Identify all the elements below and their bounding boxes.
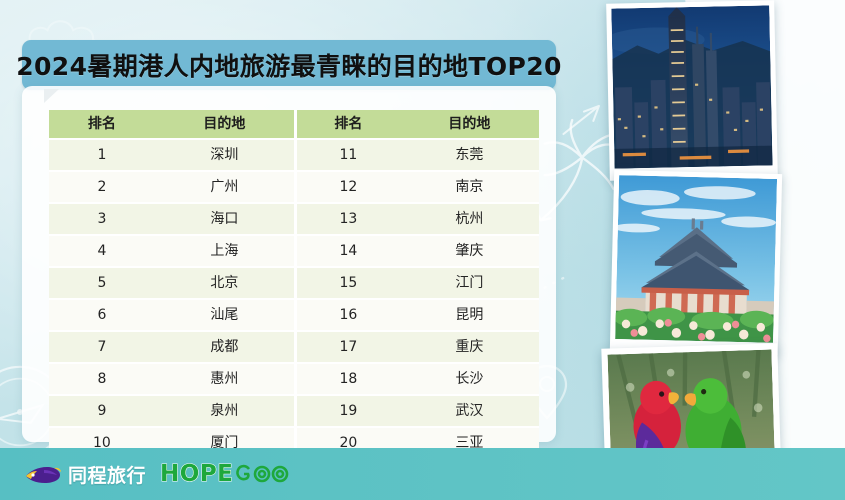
table-row: 2广州12南京: [49, 172, 539, 204]
cell-rank-left: 4: [49, 236, 155, 268]
cell-destination-left: 北京: [155, 268, 294, 300]
ranking-table: 排名 目的地 排名 目的地 1深圳11东莞2广州12南京3海口13杭州4上海14…: [49, 110, 539, 458]
cell-destination-left: 上海: [155, 236, 294, 268]
cell-destination-left: 泉州: [155, 396, 294, 428]
tongcheng-logo-text: 同程旅行: [68, 461, 146, 488]
cell-destination-left: 汕尾: [155, 300, 294, 332]
guangzhou-memorial-hall-image: [615, 175, 777, 343]
cell-rank-right: 14: [294, 236, 400, 268]
photo-guangzhou-memorial-hall: [610, 170, 782, 355]
cell-rank-right: 15: [294, 268, 400, 300]
cell-rank-right: 16: [294, 300, 400, 332]
cell-rank-left: 2: [49, 172, 155, 204]
ranking-table-inner: 排名 目的地 排名 目的地 1深圳11东莞2广州12南京3海口13杭州4上海14…: [49, 110, 539, 458]
cell-rank-left: 5: [49, 268, 155, 300]
table-header-row: 排名 目的地 排名 目的地: [49, 110, 539, 140]
title-banner-wrap: 2024暑期港人内地旅游最青睐的目的地TOP20: [22, 40, 556, 90]
page-title: 2024暑期港人内地旅游最青睐的目的地TOP20: [22, 40, 556, 90]
cell-destination-right: 重庆: [400, 332, 539, 364]
tongcheng-bird-icon: [24, 462, 62, 486]
header-destination-right: 目的地: [400, 110, 539, 140]
footer-bar: 同程旅行 HOPE: [0, 448, 845, 500]
table-row: 5北京15江门: [49, 268, 539, 300]
cell-destination-right: 昆明: [400, 300, 539, 332]
table-row: 7成都17重庆: [49, 332, 539, 364]
cell-rank-left: 8: [49, 364, 155, 396]
hopegoo-goo-icon: [233, 461, 289, 487]
ranking-table-card: 排名 目的地 排名 目的地 1深圳11东莞2广州12南京3海口13杭州4上海14…: [22, 86, 556, 442]
shenzhen-skyline-image: [611, 5, 772, 168]
header-rank-right: 排名: [294, 110, 400, 140]
cell-destination-right: 东莞: [400, 140, 539, 172]
cell-destination-right: 南京: [400, 172, 539, 204]
cell-destination-right: 肇庆: [400, 236, 539, 268]
infographic-canvas: 2024暑期港人内地旅游最青睐的目的地TOP20 排名 目的地 排名 目的地 1…: [0, 0, 845, 500]
cell-destination-right: 长沙: [400, 364, 539, 396]
cell-destination-left: 海口: [155, 204, 294, 236]
table-row: 3海口13杭州: [49, 204, 539, 236]
table-row: 9泉州19武汉: [49, 396, 539, 428]
hopegoo-hope-text: HOPE: [160, 461, 233, 487]
table-row: 6汕尾16昆明: [49, 300, 539, 332]
header-destination-left: 目的地: [155, 110, 294, 140]
table-row: 4上海14肇庆: [49, 236, 539, 268]
cell-destination-right: 杭州: [400, 204, 539, 236]
cell-rank-right: 12: [294, 172, 400, 204]
cell-rank-right: 11: [294, 140, 400, 172]
airplane-icon: [556, 96, 612, 144]
tongcheng-logo[interactable]: 同程旅行: [24, 461, 146, 488]
cell-destination-left: 成都: [155, 332, 294, 364]
cell-destination-left: 深圳: [155, 140, 294, 172]
cell-rank-left: 7: [49, 332, 155, 364]
hopegoo-logo[interactable]: HOPE: [160, 461, 289, 487]
cell-rank-left: 3: [49, 204, 155, 236]
photo-shenzhen-body: [611, 5, 772, 168]
cell-rank-left: 6: [49, 300, 155, 332]
photo-shenzhen-skyline: [606, 0, 778, 180]
cell-rank-right: 18: [294, 364, 400, 396]
header-rank-left: 排名: [49, 110, 155, 140]
cell-destination-left: 惠州: [155, 364, 294, 396]
photo-guangzhou-body: [615, 175, 777, 343]
cell-rank-right: 17: [294, 332, 400, 364]
footer-logos: 同程旅行 HOPE: [24, 461, 289, 488]
table-row: 8惠州18长沙: [49, 364, 539, 396]
cell-rank-right: 13: [294, 204, 400, 236]
cell-rank-left: 1: [49, 140, 155, 172]
cell-rank-right: 19: [294, 396, 400, 428]
table-row: 1深圳11东莞: [49, 140, 539, 172]
cell-destination-left: 广州: [155, 172, 294, 204]
table-body: 1深圳11东莞2广州12南京3海口13杭州4上海14肇庆5北京15江门6汕尾16…: [49, 140, 539, 458]
table-header: 排名 目的地 排名 目的地: [49, 110, 539, 140]
cell-rank-left: 9: [49, 396, 155, 428]
cell-destination-right: 江门: [400, 268, 539, 300]
cell-destination-right: 武汉: [400, 396, 539, 428]
